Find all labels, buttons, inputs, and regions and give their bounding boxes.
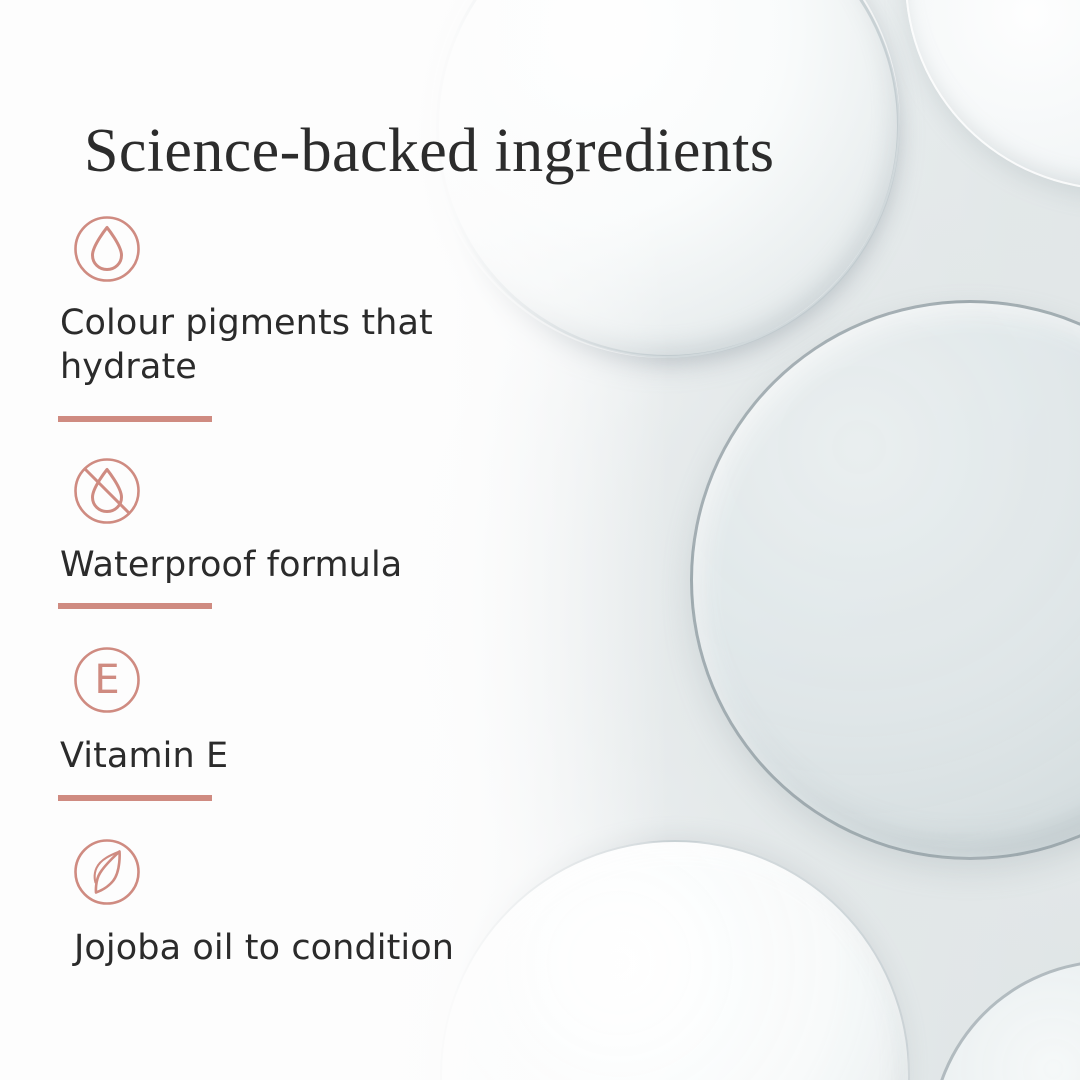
feature-divider	[58, 795, 212, 801]
leaf-icon	[72, 837, 142, 907]
feature-label: Vitamin E	[60, 735, 578, 779]
feature-item-jojoba-oil: Jojoba oil to condition	[58, 837, 578, 971]
page-title: Science-backed ingredients	[84, 116, 774, 187]
vitamin-e-letter: E	[94, 657, 119, 703]
ingredient-feature-card: Science-backed ingredients Colour pigmen…	[0, 0, 1080, 1080]
feature-label: Waterproof formula	[60, 544, 578, 588]
content-layer: Science-backed ingredients Colour pigmen…	[0, 0, 1080, 1080]
feature-item-colour-pigments: Colour pigments that hydrate	[58, 214, 578, 422]
water-droplet-icon	[72, 214, 142, 284]
feature-list: Colour pigments that hydrate Waterproof …	[58, 214, 578, 971]
feature-divider	[58, 416, 212, 422]
feature-label: Jojoba oil to condition	[74, 927, 578, 971]
waterproof-droplet-icon	[72, 456, 142, 526]
vitamin-e-icon: E	[72, 645, 142, 715]
feature-label: Colour pigments that hydrate	[60, 302, 578, 390]
feature-item-waterproof: Waterproof formula	[58, 456, 578, 610]
feature-divider	[58, 603, 212, 609]
feature-item-vitamin-e: E Vitamin E	[58, 645, 578, 801]
